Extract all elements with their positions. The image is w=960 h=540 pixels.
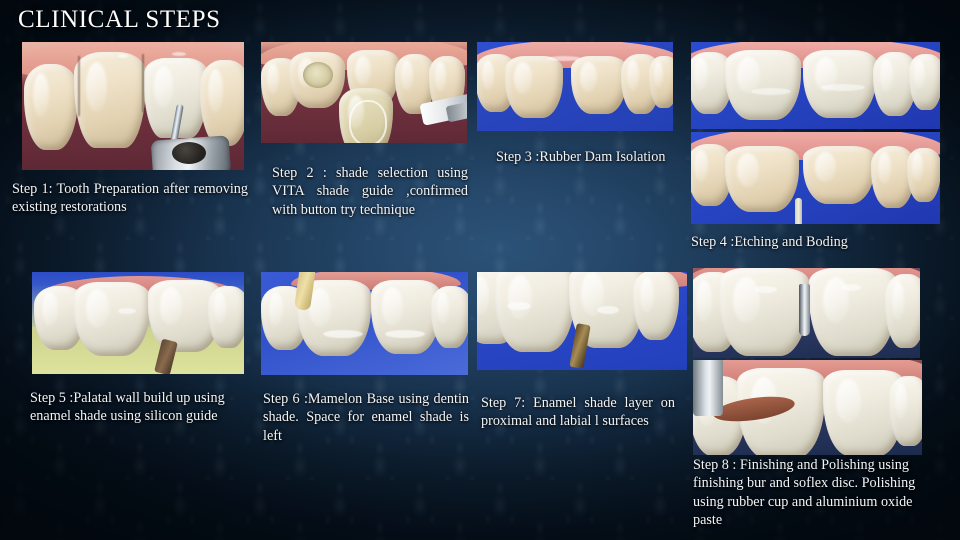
step-7-photo (477, 272, 687, 370)
step-6-caption: Step 6 :Mamelon Base using dentin shade.… (263, 390, 469, 445)
finishing-bur-icon (799, 284, 810, 336)
polishing-handpiece-icon (693, 360, 723, 416)
step-2-caption: Step 2 : shade selection using VITA shad… (272, 164, 468, 219)
step-5-photo (32, 272, 244, 374)
step-1-photo (22, 42, 244, 170)
step-2-photo (261, 42, 467, 143)
bonding-applicator-icon (795, 198, 802, 224)
step-6-photo (261, 272, 468, 375)
step-8-caption: Step 8 : Finishing and Polishing using f… (693, 456, 945, 530)
step-3-caption: Step 3 :Rubber Dam Isolation (496, 148, 666, 166)
step-4-photo-top (691, 42, 940, 129)
step-4-caption: Step 4 :Etching and Boding (691, 233, 941, 251)
step-8-photo-top (693, 268, 920, 358)
presentation-slide: CLINICAL STEPS Step 1: Tooth Preparation… (0, 0, 960, 540)
step-5-caption: Step 5 :Palatal wall build up using enam… (30, 389, 242, 426)
step-8-photo-bottom (693, 360, 922, 455)
step-3-photo (477, 42, 673, 131)
slide-title: CLINICAL STEPS (18, 6, 221, 34)
step-1-caption: Step 1: Tooth Preparation after removing… (12, 180, 248, 217)
step-7-caption: Step 7: Enamel shade layer on proximal a… (481, 394, 675, 431)
step-4-photo-bottom (691, 132, 940, 224)
